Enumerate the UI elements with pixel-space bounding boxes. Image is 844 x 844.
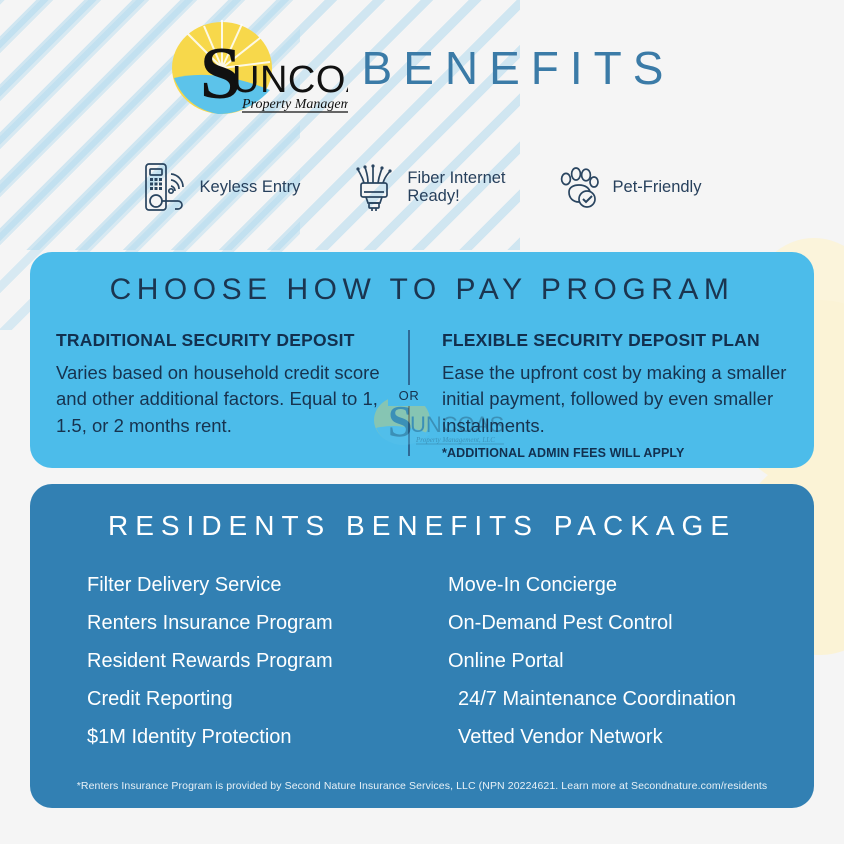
svg-text:UNCOAST: UNCOAST xyxy=(232,59,348,101)
traditional-deposit-column: TRADITIONAL SECURITY DEPOSIT Varies base… xyxy=(56,330,408,439)
list-item: Credit Reporting xyxy=(87,680,447,718)
list-item: $1M Identity Protection xyxy=(87,718,447,756)
list-item: Filter Delivery Service xyxy=(87,566,447,604)
choose-how-to-pay-panel: CHOOSE HOW TO PAY PROGRAM TRADITIONAL SE… xyxy=(30,252,814,468)
suncoast-logo-icon: S UNCOAST Property Management, LLC xyxy=(170,16,348,120)
list-item: On-Demand Pest Control xyxy=(448,604,808,642)
feature-highlights: Keyless Entry Fiber Internet Ready! xyxy=(0,148,844,226)
suncoast-logo: S UNCOAST Property Management, LLC xyxy=(170,16,348,120)
feature-label: Keyless Entry xyxy=(200,178,301,196)
residents-benefits-panel: RESIDENTS BENEFITS PACKAGE Filter Delive… xyxy=(30,484,814,808)
benefits-column-right: Move-In Concierge On-Demand Pest Control… xyxy=(448,566,808,756)
svg-text:Property Management, LLC: Property Management, LLC xyxy=(241,97,348,112)
page-header: S UNCOAST Property Management, LLC BENEF… xyxy=(0,0,844,135)
list-item: Vetted Vendor Network xyxy=(448,718,808,756)
benefits-column-left: Filter Delivery Service Renters Insuranc… xyxy=(87,566,447,756)
flexible-deposit-heading: FLEXIBLE SECURITY DEPOSIT PLAN xyxy=(442,330,814,351)
list-item: 24/7 Maintenance Coordination xyxy=(448,680,808,718)
residents-benefits-title: RESIDENTS BENEFITS PACKAGE xyxy=(30,510,814,542)
or-divider-label: OR xyxy=(388,385,430,406)
traditional-deposit-body: Varies based on household credit score a… xyxy=(56,360,408,439)
admin-fees-note: *ADDITIONAL ADMIN FEES WILL APPLY xyxy=(442,446,814,460)
feature-keyless-entry: Keyless Entry xyxy=(143,161,301,213)
traditional-deposit-heading: TRADITIONAL SECURITY DEPOSIT xyxy=(56,330,408,351)
fiber-optic-cable-icon xyxy=(350,161,398,213)
list-item: Resident Rewards Program xyxy=(87,642,447,680)
list-item: Online Portal xyxy=(448,642,808,680)
keyless-door-lock-icon xyxy=(143,161,191,213)
flexible-deposit-body: Ease the upfront cost by making a smalle… xyxy=(442,360,814,439)
feature-fiber-internet: Fiber Internet Ready! xyxy=(350,161,505,213)
pay-program-title: CHOOSE HOW TO PAY PROGRAM xyxy=(30,273,814,307)
feature-label: Pet-Friendly xyxy=(613,178,702,196)
feature-label: Fiber Internet Ready! xyxy=(407,169,505,206)
list-item: Renters Insurance Program xyxy=(87,604,447,642)
feature-pet-friendly: Pet-Friendly xyxy=(556,161,702,213)
page-title: BENEFITS xyxy=(362,45,675,91)
residents-footnote: *Renters Insurance Program is provided b… xyxy=(30,780,814,792)
list-item: Move-In Concierge xyxy=(448,566,808,604)
flyer-page: S UNCOAST Property Management, LLC BENEF… xyxy=(0,0,844,844)
flexible-deposit-column: FLEXIBLE SECURITY DEPOSIT PLAN Ease the … xyxy=(442,330,814,460)
paw-check-icon xyxy=(556,161,604,213)
